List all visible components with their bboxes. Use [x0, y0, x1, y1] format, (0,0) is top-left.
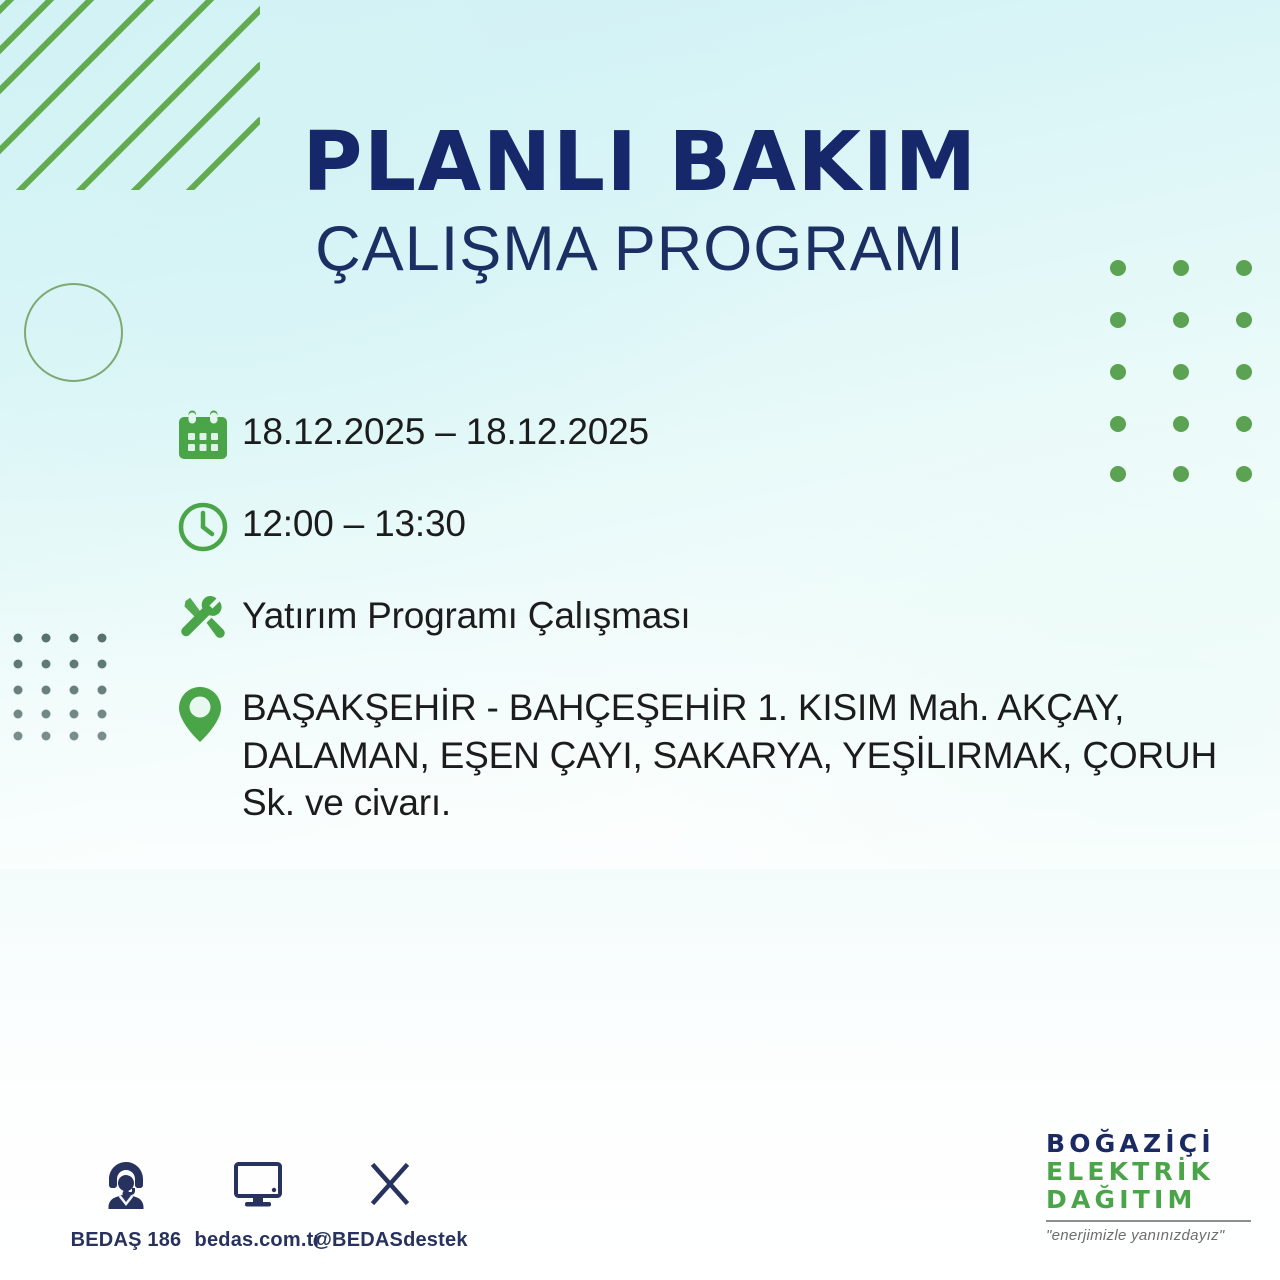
page-subtitle: ÇALIŞMA PROGRAMI [0, 218, 1280, 281]
contact-x-social[interactable]: @BEDASdestek [324, 1152, 456, 1252]
work-type-text: Yatırım Programı Çalışması [242, 588, 1266, 640]
logo-line-elektrik: ELEKTRİK [1046, 1158, 1258, 1186]
maintenance-details: 18.12.2025 – 18.12.2025 12:00 – 13:30 [176, 404, 1266, 827]
page-title-block: PLANLI BAKIM ÇALIŞMA PROGRAMI [0, 122, 1280, 281]
x-twitter-icon [362, 1152, 418, 1216]
clock-icon [176, 496, 242, 558]
calendar-icon [176, 404, 242, 466]
contact-x-label: @BEDASdestek [312, 1229, 467, 1252]
detail-row-date: 18.12.2025 – 18.12.2025 [176, 404, 1266, 466]
detail-row-work-type: Yatırım Programı Çalışması [176, 588, 1266, 650]
bedas-logo: BOĞAZİÇİ ELEKTRİK DAĞITIM "enerjimizle y… [1046, 1130, 1258, 1244]
date-range-text: 18.12.2025 – 18.12.2025 [242, 404, 1266, 456]
contact-website-label: bedas.com.tr [195, 1229, 322, 1252]
page-title: PLANLI BAKIM [0, 122, 1280, 204]
detail-row-time: 12:00 – 13:30 [176, 496, 1266, 558]
circle-outline-decoration [24, 283, 123, 382]
time-range-text: 12:00 – 13:30 [242, 496, 1266, 548]
contact-list: BEDAŞ 186 bedas.com.tr [60, 1152, 456, 1252]
contact-phone[interactable]: BEDAŞ 186 [60, 1152, 192, 1252]
detail-row-location: BAŞAKŞEHİR - BAHÇEŞEHİR 1. KISIM Mah. AK… [176, 680, 1266, 827]
poster-root: PLANLI BAKIM ÇALIŞMA PROGRAMI [0, 0, 1280, 1280]
headset-support-icon [97, 1152, 155, 1216]
dot-grid-left-decoration [12, 632, 122, 747]
logo-divider [1046, 1220, 1251, 1222]
contact-website[interactable]: bedas.com.tr [192, 1152, 324, 1252]
logo-line-dagitim: DAĞITIM [1046, 1186, 1258, 1214]
contact-phone-label: BEDAŞ 186 [71, 1229, 182, 1252]
logo-tagline: "enerjimizle yanınızdayız" [1046, 1227, 1258, 1244]
tools-icon [176, 588, 242, 650]
monitor-website-icon [229, 1152, 287, 1216]
location-pin-icon [176, 680, 242, 746]
logo-line-bogazici: BOĞAZİÇİ [1046, 1130, 1258, 1158]
location-text: BAŞAKŞEHİR - BAHÇEŞEHİR 1. KISIM Mah. AK… [242, 680, 1242, 827]
